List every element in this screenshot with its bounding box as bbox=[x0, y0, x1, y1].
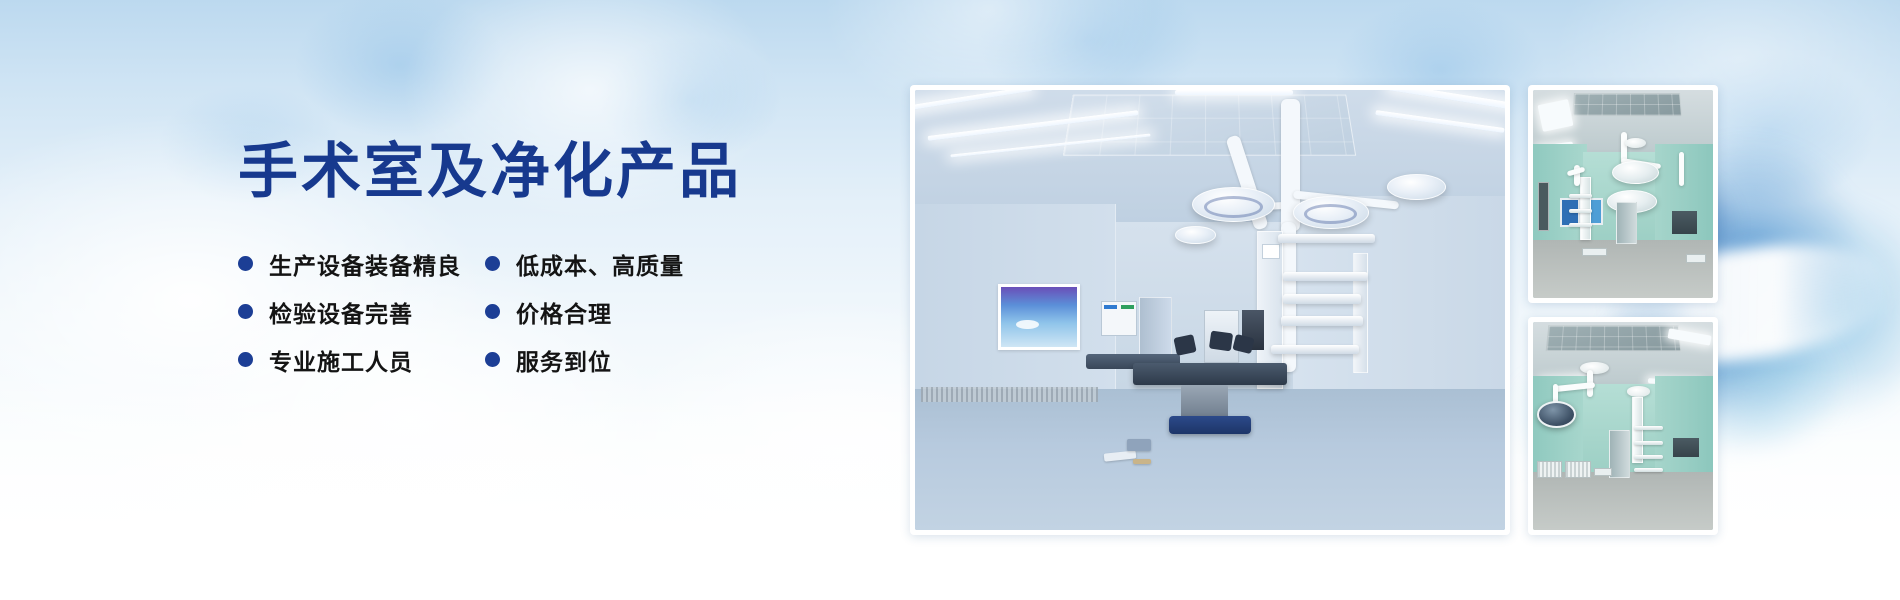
list-item-label: 专业施工人员 bbox=[269, 343, 413, 377]
list-item-label: 价格合理 bbox=[516, 295, 612, 329]
cleanroom-thumbnail-upper[interactable] bbox=[1528, 85, 1718, 303]
wall-return-air-vent bbox=[921, 387, 1098, 403]
bullet-dot-icon bbox=[238, 304, 253, 319]
surgical-light-arm bbox=[1679, 152, 1684, 185]
pendant-shelf bbox=[1569, 194, 1592, 198]
cleanroom-thumbnail-lower[interactable] bbox=[1528, 317, 1718, 535]
list-item-label: 服务到位 bbox=[516, 343, 612, 377]
pendant-shelf bbox=[1283, 294, 1361, 304]
table-headrest bbox=[1209, 331, 1234, 352]
pendant-shelf bbox=[1634, 426, 1663, 430]
feature-list: 生产设备装备精良 低成本、高质量 检验设备完善 价格合理 专业施工人员 服务到位 bbox=[238, 241, 878, 383]
cleanroom-scene bbox=[1533, 322, 1713, 530]
pendant-shelf bbox=[1569, 209, 1592, 213]
floor bbox=[1533, 472, 1713, 530]
bullet-dot-icon bbox=[485, 256, 500, 271]
wall-window-panel bbox=[1673, 438, 1698, 457]
photo-content bbox=[915, 90, 1505, 530]
room-door bbox=[1616, 202, 1638, 244]
surgical-lamp-head bbox=[1537, 401, 1577, 428]
operating-room-main-photo[interactable] bbox=[910, 85, 1510, 535]
pendant-shelf bbox=[1634, 468, 1663, 472]
operating-room-scene bbox=[915, 90, 1505, 530]
ceiling-light-strip bbox=[1387, 90, 1505, 112]
list-item-label: 生产设备装备精良 bbox=[269, 247, 461, 281]
surgical-lamp-head bbox=[1175, 226, 1216, 244]
ceiling-mount-disc bbox=[1627, 386, 1650, 396]
surgical-lamp-ring bbox=[1204, 196, 1263, 218]
ceiling-light-strip bbox=[1175, 90, 1293, 95]
surgical-lamp-head bbox=[1387, 174, 1446, 200]
page-title: 手术室及净化产品 bbox=[238, 140, 878, 205]
pendant-shelf bbox=[1569, 223, 1592, 227]
ceiling-laminar-panel bbox=[1572, 93, 1682, 116]
pendant-shelf bbox=[1271, 345, 1358, 355]
cleanroom-scene bbox=[1533, 90, 1713, 298]
banner-hero: 手术室及净化产品 生产设备装备精良 低成本、高质量 检验设备完善 价格合理 专业… bbox=[0, 0, 1900, 600]
side-doorway bbox=[1538, 182, 1549, 232]
wall-return-air-vent bbox=[1565, 461, 1590, 478]
pendant-shelf bbox=[1634, 441, 1663, 445]
wall-outlet-strip bbox=[1594, 468, 1612, 476]
ceiling-grid bbox=[1547, 326, 1681, 350]
pendant-shelf bbox=[1281, 316, 1364, 326]
wall-sky-picture bbox=[998, 284, 1081, 350]
floor bbox=[1533, 240, 1713, 298]
photo-content bbox=[1533, 90, 1713, 298]
list-item: 低成本、高质量 bbox=[485, 247, 878, 281]
ceiling-light-strip bbox=[1376, 110, 1505, 133]
wall-right bbox=[1655, 376, 1713, 476]
list-item-label: 检验设备完善 bbox=[269, 295, 413, 329]
wall-outlet-strip bbox=[1582, 248, 1607, 255]
surgical-lamp-head bbox=[1612, 161, 1659, 184]
bullet-dot-icon bbox=[485, 352, 500, 367]
medical-pendant-column bbox=[1632, 397, 1643, 464]
operating-table bbox=[1133, 363, 1286, 385]
bullet-dot-icon bbox=[238, 256, 253, 271]
photo-content bbox=[1533, 322, 1713, 530]
list-item-label: 低成本、高质量 bbox=[516, 247, 684, 281]
list-item: 专业施工人员 bbox=[238, 343, 485, 377]
hero-text-block: 手术室及净化产品 生产设备装备精良 低成本、高质量 检验设备完善 价格合理 专业… bbox=[238, 140, 878, 383]
ceiling-laminar-panel bbox=[1546, 325, 1682, 351]
pendant-shelf bbox=[1634, 455, 1663, 459]
floor-item bbox=[1133, 459, 1151, 464]
wall-outlet-strip bbox=[1686, 254, 1706, 262]
ceiling-light-strip bbox=[915, 90, 1033, 112]
operating-table-base bbox=[1169, 416, 1252, 434]
list-item: 检验设备完善 bbox=[238, 295, 485, 329]
pendant-shelf bbox=[1278, 234, 1375, 244]
operating-table-pedestal bbox=[1181, 385, 1228, 420]
wall-info-poster bbox=[1101, 301, 1138, 336]
bullet-dot-icon bbox=[238, 352, 253, 367]
ceiling-grid bbox=[1573, 94, 1681, 115]
bullet-dot-icon bbox=[485, 304, 500, 319]
ceiling-laminar-panel bbox=[1063, 95, 1357, 156]
wall-window-panel bbox=[1672, 211, 1697, 234]
list-item: 价格合理 bbox=[485, 295, 878, 329]
pendant-shelf bbox=[1283, 272, 1368, 282]
list-item: 服务到位 bbox=[485, 343, 878, 377]
list-item: 生产设备装备精良 bbox=[238, 247, 485, 281]
ceiling-grid bbox=[1064, 95, 1355, 155]
floor-item bbox=[1127, 439, 1151, 450]
wall-return-air-vent bbox=[1537, 461, 1562, 478]
ceiling-mount-disc bbox=[1580, 362, 1609, 374]
